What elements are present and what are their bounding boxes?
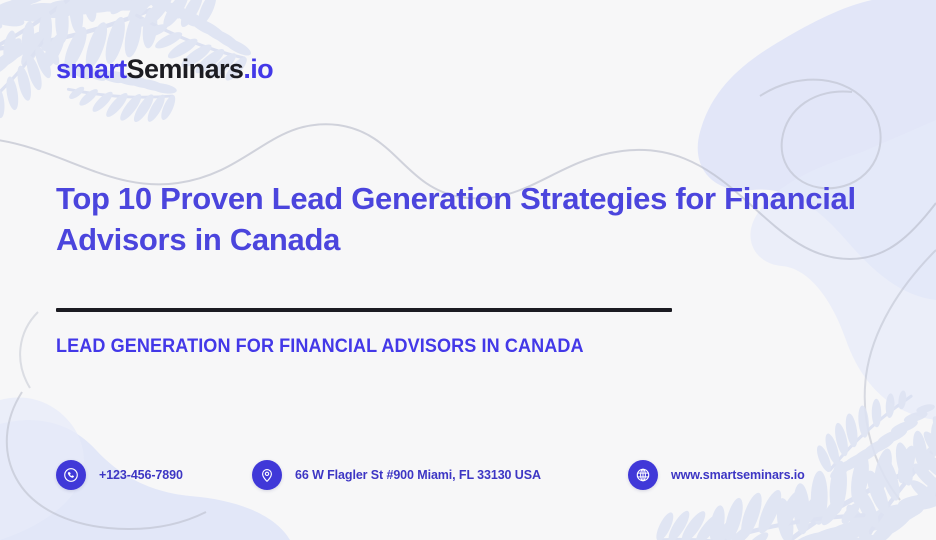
contact-website[interactable]: www.smartseminars.io — [628, 460, 805, 490]
contact-address[interactable]: 66 W Flagler St #900 Miami, FL 33130 USA — [252, 460, 628, 490]
website-url: www.smartseminars.io — [671, 468, 805, 482]
brand-logo: smartSeminars.io — [56, 56, 273, 83]
logo-text-seminars: Seminars — [127, 54, 244, 84]
logo-text-smart: smart — [56, 54, 127, 84]
title-divider — [56, 308, 672, 312]
address-text: 66 W Flagler St #900 Miami, FL 33130 USA — [295, 468, 541, 482]
page-subtitle: LEAD GENERATION FOR FINANCIAL ADVISORS I… — [56, 336, 584, 359]
phone-number: +123-456-7890 — [99, 468, 183, 482]
logo-text-tld: .io — [243, 54, 273, 84]
contact-phone[interactable]: +123-456-7890 — [56, 460, 252, 490]
globe-icon — [628, 460, 658, 490]
presentation-slide: smartSeminars.io Top 10 Proven Lead Gene… — [0, 0, 936, 540]
phone-icon — [56, 460, 86, 490]
location-pin-icon — [252, 460, 282, 490]
contact-footer: +123-456-7890 66 W Flagler St #900 Miami… — [56, 455, 880, 495]
page-title: Top 10 Proven Lead Generation Strategies… — [56, 178, 868, 260]
